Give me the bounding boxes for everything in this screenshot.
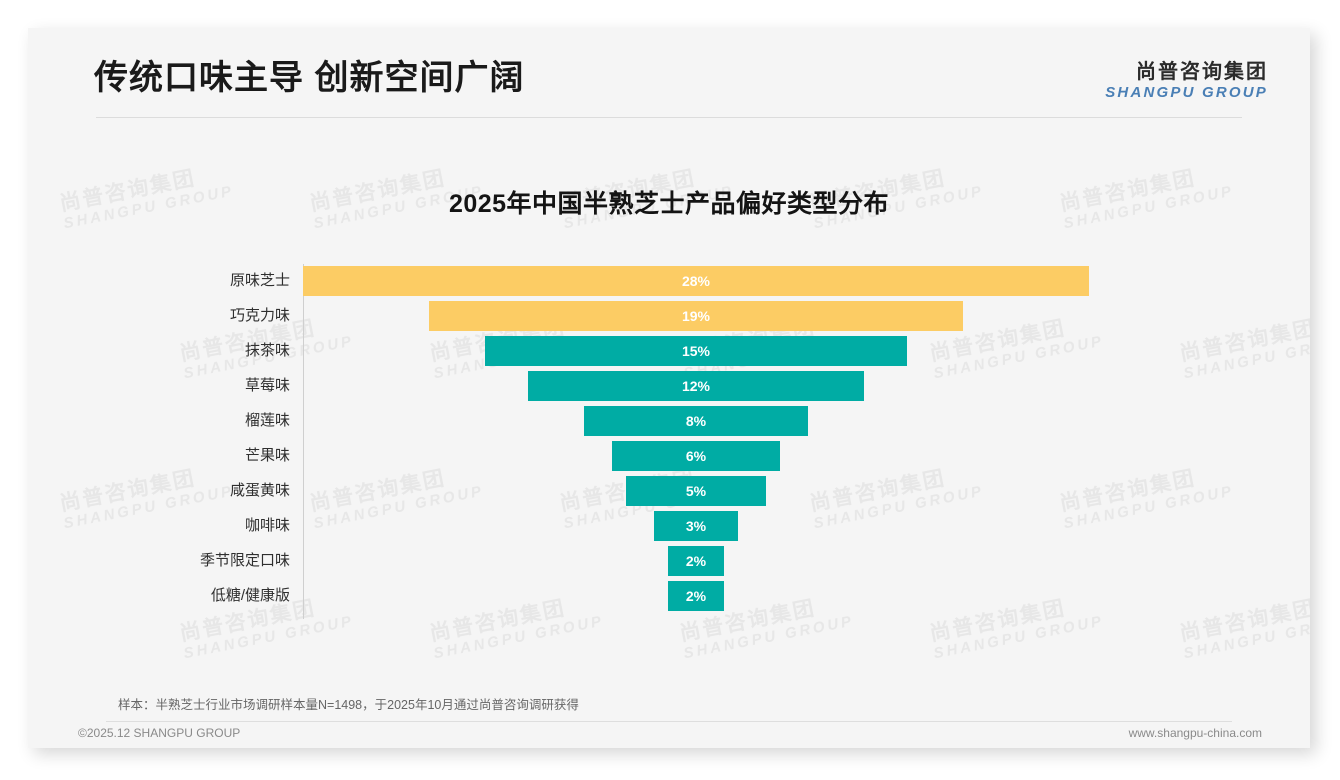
bar-segment[interactable]: 15% bbox=[485, 336, 906, 366]
website-link[interactable]: www.shangpu-china.com bbox=[1129, 726, 1262, 740]
chart-title: 2025年中国半熟芝士产品偏好类型分布 bbox=[28, 184, 1310, 220]
chart-row: 抹茶味15% bbox=[28, 336, 1310, 366]
category-label: 巧克力味 bbox=[28, 301, 290, 331]
bar-value-label: 12% bbox=[528, 371, 865, 401]
bar-segment[interactable]: 2% bbox=[668, 581, 724, 611]
category-label: 芒果味 bbox=[28, 441, 290, 471]
bar-segment[interactable]: 5% bbox=[626, 476, 766, 506]
category-label: 原味芝士 bbox=[28, 266, 290, 296]
chart-row: 咖啡味3% bbox=[28, 511, 1310, 541]
chart-row: 榴莲味8% bbox=[28, 406, 1310, 436]
chart-row: 芒果味6% bbox=[28, 441, 1310, 471]
brand-logo: 尚普咨询集团 SHANGPU GROUP bbox=[1105, 62, 1268, 101]
chart-row: 草莓味12% bbox=[28, 371, 1310, 401]
slide-header: 传统口味主导 创新空间广阔 尚普咨询集团 SHANGPU GROUP bbox=[28, 28, 1310, 118]
bar-value-label: 3% bbox=[654, 511, 738, 541]
bar-value-label: 15% bbox=[485, 336, 906, 366]
category-label: 草莓味 bbox=[28, 371, 290, 401]
sample-note: 样本：半熟芝士行业市场调研样本量N=1498，于2025年10月通过尚普咨询调研… bbox=[118, 694, 579, 713]
category-label: 季节限定口味 bbox=[28, 546, 290, 576]
bar-segment[interactable]: 3% bbox=[654, 511, 738, 541]
chart-row: 低糖/健康版2% bbox=[28, 581, 1310, 611]
bar-segment[interactable]: 6% bbox=[612, 441, 780, 471]
bar-segment[interactable]: 12% bbox=[528, 371, 865, 401]
page-title: 传统口味主导 创新空间广阔 bbox=[94, 50, 524, 99]
category-label: 榴莲味 bbox=[28, 406, 290, 436]
category-label: 咖啡味 bbox=[28, 511, 290, 541]
bar-value-label: 6% bbox=[612, 441, 780, 471]
bar-value-label: 8% bbox=[584, 406, 809, 436]
logo-chinese-text: 尚普咨询集团 bbox=[1105, 62, 1268, 83]
bar-segment[interactable]: 8% bbox=[584, 406, 809, 436]
footnote-section: 样本：半熟芝士行业市场调研样本量N=1498，于2025年10月通过尚普咨询调研… bbox=[28, 684, 1310, 722]
slide-footer: ©2025.12 SHANGPU GROUP www.shangpu-china… bbox=[28, 722, 1310, 748]
header-divider bbox=[96, 117, 1242, 118]
chart-row: 咸蛋黄味5% bbox=[28, 476, 1310, 506]
bar-segment[interactable]: 28% bbox=[303, 266, 1089, 296]
bar-segment[interactable]: 2% bbox=[668, 546, 724, 576]
category-label: 咸蛋黄味 bbox=[28, 476, 290, 506]
category-label: 抹茶味 bbox=[28, 336, 290, 366]
category-label: 低糖/健康版 bbox=[28, 581, 290, 611]
chart-row: 原味芝士28% bbox=[28, 266, 1310, 296]
chart-row: 巧克力味19% bbox=[28, 301, 1310, 331]
funnel-chart-plot: 原味芝士28%巧克力味19%抹茶味15%草莓味12%榴莲味8%芒果味6%咸蛋黄味… bbox=[28, 264, 1310, 644]
bar-value-label: 28% bbox=[303, 266, 1089, 296]
slide-panel: 传统口味主导 创新空间广阔 尚普咨询集团 SHANGPU GROUP 尚普咨询集… bbox=[28, 28, 1310, 748]
chart-row: 季节限定口味2% bbox=[28, 546, 1310, 576]
bar-value-label: 2% bbox=[668, 546, 724, 576]
bar-value-label: 2% bbox=[668, 581, 724, 611]
copyright-text: ©2025.12 SHANGPU GROUP bbox=[78, 726, 240, 740]
logo-english-text: SHANGPU GROUP bbox=[1105, 85, 1268, 101]
bar-segment[interactable]: 19% bbox=[429, 301, 962, 331]
bar-value-label: 19% bbox=[429, 301, 962, 331]
chart-container: 2025年中国半熟芝士产品偏好类型分布 原味芝士28%巧克力味19%抹茶味15%… bbox=[28, 124, 1310, 684]
bar-value-label: 5% bbox=[626, 476, 766, 506]
